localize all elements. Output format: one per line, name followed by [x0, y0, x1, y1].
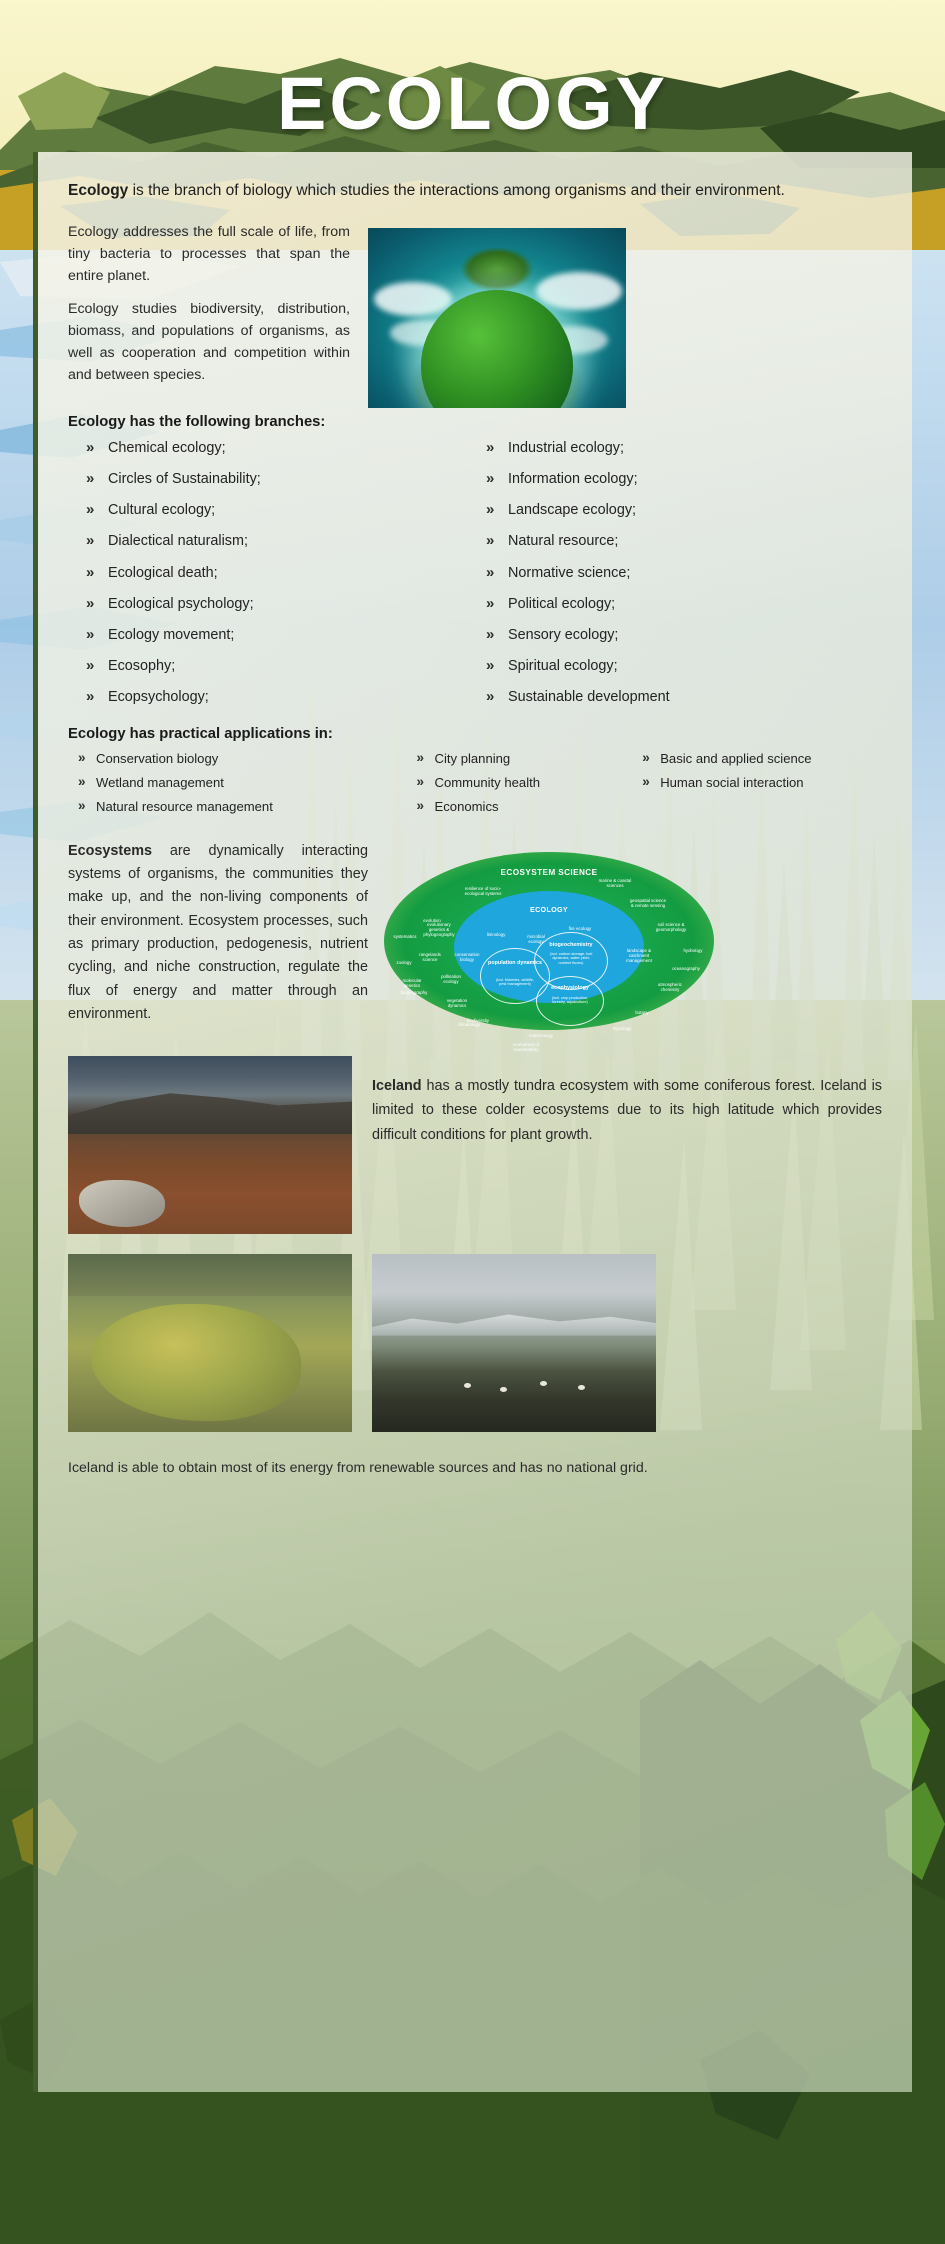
lead-paragraph: Ecology is the branch of biology which s… [68, 178, 882, 205]
intro-text-column: Ecology addresses the full scale of life… [68, 221, 350, 397]
list-item: Landscape ecology; [482, 501, 882, 520]
list-item: Basic and applied science [640, 751, 882, 767]
branches-column-left: Chemical ecology; Circles of Sustainabil… [82, 439, 482, 720]
iceland-tundra-photo [68, 1056, 352, 1234]
poster-root: ECOLOGY Ecology is the branch of biology… [0, 0, 945, 2244]
applications-column-3: Basic and applied science Human social i… [640, 751, 882, 824]
diagram-label-economics-sustainability: economics of sustainability [498, 1042, 554, 1053]
page-title: ECOLOGY [277, 67, 668, 141]
applications-column-1: Conservation biology Wetland management … [76, 751, 415, 824]
list-item: Ecopsychology; [82, 688, 482, 707]
lead-bold-term: Ecology [68, 182, 128, 199]
list-item: Ecology movement; [82, 626, 482, 645]
diagram-label-landscape-catchment: landscape & catchment management [612, 948, 666, 964]
applications-heading: Ecology has practical applications in: [68, 726, 882, 742]
diagram-label-mycology: mycology [602, 1026, 642, 1031]
iceland-text-column: Iceland has a mostly tundra ecosystem wi… [372, 1056, 882, 1158]
branches-columns: Chemical ecology; Circles of Sustainabil… [68, 439, 882, 720]
diagram-label-oceanography: oceanography [658, 966, 714, 971]
list-item: Natural resource management [76, 799, 415, 815]
ecosystems-paragraph: Ecosystems are dynamically interacting s… [68, 840, 368, 1027]
iceland-body-text: has a mostly tundra ecosystem with some … [372, 1078, 882, 1143]
venn-detail-population-dynamics: (incl. fisheries, wildlife, pest managem… [482, 978, 548, 987]
list-item: Cultural ecology; [82, 501, 482, 520]
venn-label-biogeochemistry: biogeochemistry [538, 942, 604, 948]
venn-detail-ecophysiology: (incl. crop production, forestry, aquacu… [536, 996, 604, 1005]
list-item: Sustainable development [482, 688, 882, 707]
iceland-bold-term: Iceland [372, 1078, 422, 1094]
intro-row: Ecology addresses the full scale of life… [68, 221, 882, 408]
list-item: Circles of Sustainability; [82, 470, 482, 489]
diagram-label-biodiversity: biodiversity [456, 1018, 500, 1023]
diagram-label-evolutionary-genetics: evolutionary genetics & phylogeography [410, 922, 468, 938]
sheep-shape [578, 1385, 585, 1390]
intro-paragraph-1: Ecology addresses the full scale of life… [68, 221, 350, 287]
branches-heading: Ecology has the following branches: [68, 414, 882, 430]
venn-detail-biogeochemistry: (incl. carbon storage, fuel dynamics, wa… [536, 952, 606, 966]
list-item: Natural resource; [482, 532, 882, 551]
sheep-shape [464, 1383, 471, 1388]
list-item: Economics [415, 799, 641, 815]
intro-paragraph-2: Ecology studies biodiversity, distributi… [68, 298, 350, 386]
list-item: Conservation biology [76, 751, 415, 767]
diagram-label-botany: botany [624, 1010, 660, 1015]
diagram-label-vegetation-dynamics: vegetation dynamics [434, 998, 480, 1009]
ecosystems-body-text: are dynamically interacting systems of o… [68, 843, 368, 1022]
content-card: Ecology is the branch of biology which s… [33, 152, 912, 2092]
diagram-label-marine-coastal: marine & coastal sciences [580, 878, 650, 889]
diagram-label-geospatial: geospatial science & remote sensing [606, 898, 690, 909]
sheep-shape [540, 1381, 547, 1386]
list-item: Spiritual ecology; [482, 657, 882, 676]
ecosystems-bold-term: Ecosystems [68, 843, 152, 859]
list-item: Information ecology; [482, 470, 882, 489]
ecosystems-text-column: Ecosystems are dynamically interacting s… [68, 840, 368, 1038]
iceland-grazing-photo [372, 1254, 656, 1432]
lead-rest-text: is the branch of biology which studies t… [128, 182, 785, 199]
list-item: Industrial ecology; [482, 439, 882, 458]
list-item: Ecological death; [82, 564, 482, 583]
tree-globe-image [368, 228, 626, 408]
diagram-label-biogeography: biogeography [390, 990, 438, 995]
list-item: City planning [415, 751, 641, 767]
diagram-label-limnology: limnology [476, 932, 516, 937]
photo-row-bottom [68, 1254, 882, 1432]
diagram-label-resilience: resilience of socio- ecological systems [448, 886, 518, 897]
diagram-title: ECOSYSTEM SCIENCE [384, 868, 714, 877]
list-item: Ecosophy; [82, 657, 482, 676]
list-item: Community health [415, 775, 641, 791]
list-item: Normative science; [482, 564, 882, 583]
list-item: Chemical ecology; [82, 439, 482, 458]
list-item: Wetland management [76, 775, 415, 791]
sheep-shape [500, 1387, 507, 1392]
venn-label-ecophysiology: ecophysiology [540, 985, 600, 991]
diagram-label-meteorology: meteorology [516, 1033, 566, 1038]
list-item: Dialectical naturalism; [82, 532, 482, 551]
iceland-moss-photo [68, 1254, 352, 1432]
list-item: Political ecology; [482, 595, 882, 614]
diagram-label-soil-science: soil science & geomorphology [634, 922, 708, 933]
list-item: Sensory ecology; [482, 626, 882, 645]
footer-caption: Iceland is able to obtain most of its en… [68, 1458, 882, 1479]
diagram-label-pollination-ecology: pollination ecology [428, 974, 474, 985]
iceland-row: Iceland has a mostly tundra ecosystem wi… [68, 1056, 882, 1234]
branches-column-right: Industrial ecology; Information ecology;… [482, 439, 882, 720]
applications-columns: Conservation biology Wetland management … [68, 751, 882, 824]
diagram-label-fire-ecology: fire ecology [558, 926, 602, 931]
ecosystems-row: Ecosystems are dynamically interacting s… [68, 840, 882, 1042]
list-item: Ecological psychology; [82, 595, 482, 614]
diagram-label-hydrology: hydrology [672, 948, 714, 953]
iceland-paragraph: Iceland has a mostly tundra ecosystem wi… [372, 1074, 882, 1147]
diagram-label-atmospheric-chemistry: atmospheric chemistry [642, 982, 698, 993]
applications-column-2: City planning Community health Economics [415, 751, 641, 824]
ecosystem-science-diagram: ECOSYSTEM SCIENCE ECOLOGY marine & coast… [384, 852, 714, 1042]
list-item: Human social interaction [640, 775, 882, 791]
